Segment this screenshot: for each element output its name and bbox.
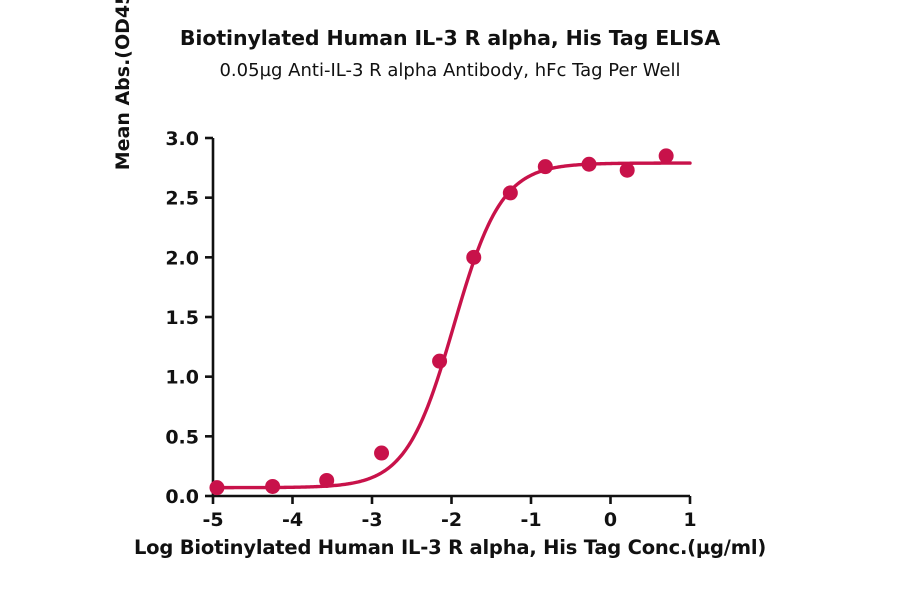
data-point [319,473,334,488]
y-tick-label: 1.5 [165,307,199,329]
y-tick-label: 0.5 [165,426,199,448]
x-tick-label: -3 [361,509,382,531]
y-tick-label: 1.0 [165,367,199,389]
data-point [582,157,597,172]
x-tick-label: 0 [604,509,617,531]
data-point [503,185,518,200]
y-tick-labels: 0.00.51.01.52.02.53.0 [165,128,199,508]
y-tick-label: 0.0 [165,486,199,508]
x-tick-label: -5 [202,509,223,531]
data-point [209,480,224,495]
x-tick-label: -2 [441,509,462,531]
axes [205,138,690,504]
y-tick-label: 3.0 [165,128,199,150]
x-tick-labels: -5-4-3-2-101 [202,509,696,531]
data-point [466,250,481,265]
chart-container: Biotinylated Human IL-3 R alpha, His Tag… [0,0,900,594]
y-tick-label: 2.5 [165,188,199,210]
x-tick-label: -4 [282,509,303,531]
x-tick-label: -1 [520,509,541,531]
data-points [209,148,673,495]
data-point [538,159,553,174]
data-point [432,354,447,369]
y-tick-label: 2.0 [165,247,199,269]
x-tick-label: 1 [683,509,696,531]
data-point [265,479,280,494]
data-point [374,446,389,461]
plot-area: 0.00.51.01.52.02.53.0 -5-4-3-2-101 [0,0,900,594]
fit-curve [213,163,690,488]
data-point [620,163,635,178]
data-point [659,148,674,163]
